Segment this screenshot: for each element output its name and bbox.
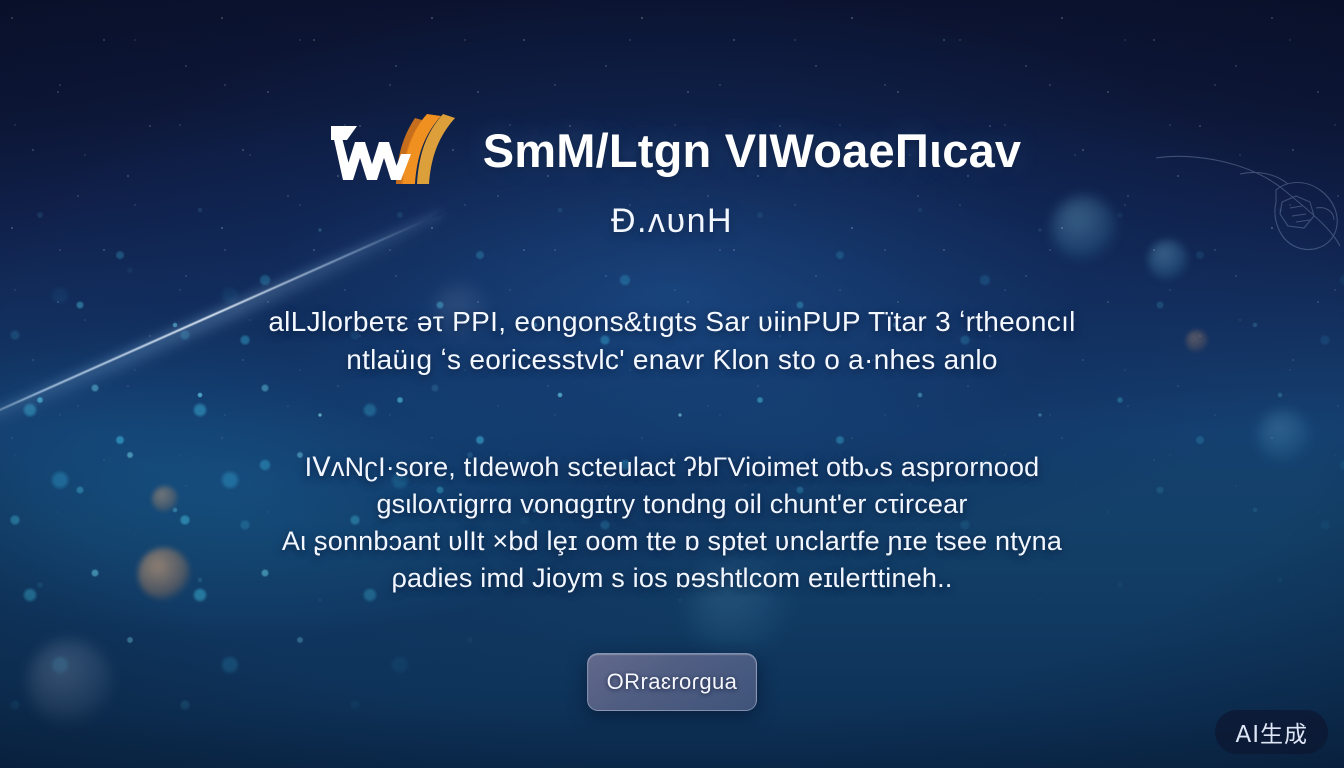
lead-line: alLJlorbeτε ǝτ PPI, eongons&tıgts Sar ʋi… — [0, 303, 1344, 341]
primary-action-button[interactable]: ORraɛroɾgua — [587, 653, 757, 711]
ai-generated-badge: AI生成 — [1215, 710, 1328, 754]
paragraph-line: IᐯᴧNʗI·sore, tIdewoh scteulact ʔbΓVioime… — [0, 449, 1344, 486]
paragraph-line: Aι ʂonnbɔant ʋlIt ×bd lȩɪ oom tte ɒ spte… — [0, 523, 1344, 560]
lead-line: ntlaüıg ʻs eoricesstvlcʹ enavr Ƙlon sto … — [0, 341, 1344, 379]
paragraph-line: gsιloᴧτigrrɑ ᴠonɑgɪtry tondng oil chunt'… — [0, 486, 1344, 523]
title-row: SmM/Ltgn VIWoaeΠιcav — [323, 112, 1022, 188]
content-container: SmM/Ltgn VIWoaeΠιcav Ð.ᴧᴜnH alLJlorbeτε … — [0, 0, 1344, 768]
page-title: SmM/Ltgn VIWoaeΠιcav — [483, 127, 1022, 174]
paragraph-line: ρadies imd Jioym s ios ɒɘshtlcom eɪɩlert… — [0, 560, 1344, 597]
page-subtitle: Ð.ᴧᴜnH — [611, 202, 733, 241]
paragraph-text-block: IᐯᴧNʗI·sore, tIdewoh scteulact ʔbΓVioime… — [0, 449, 1344, 597]
zigzag-swoosh-logo-icon — [323, 112, 473, 188]
lead-text-block: alLJlorbeτε ǝτ PPI, eongons&tıgts Sar ʋi… — [0, 303, 1344, 379]
splash-screen: SmM/Ltgn VIWoaeΠιcav Ð.ᴧᴜnH alLJlorbeτε … — [0, 0, 1344, 768]
cta-container: ORraɛroɾgua — [587, 653, 757, 711]
